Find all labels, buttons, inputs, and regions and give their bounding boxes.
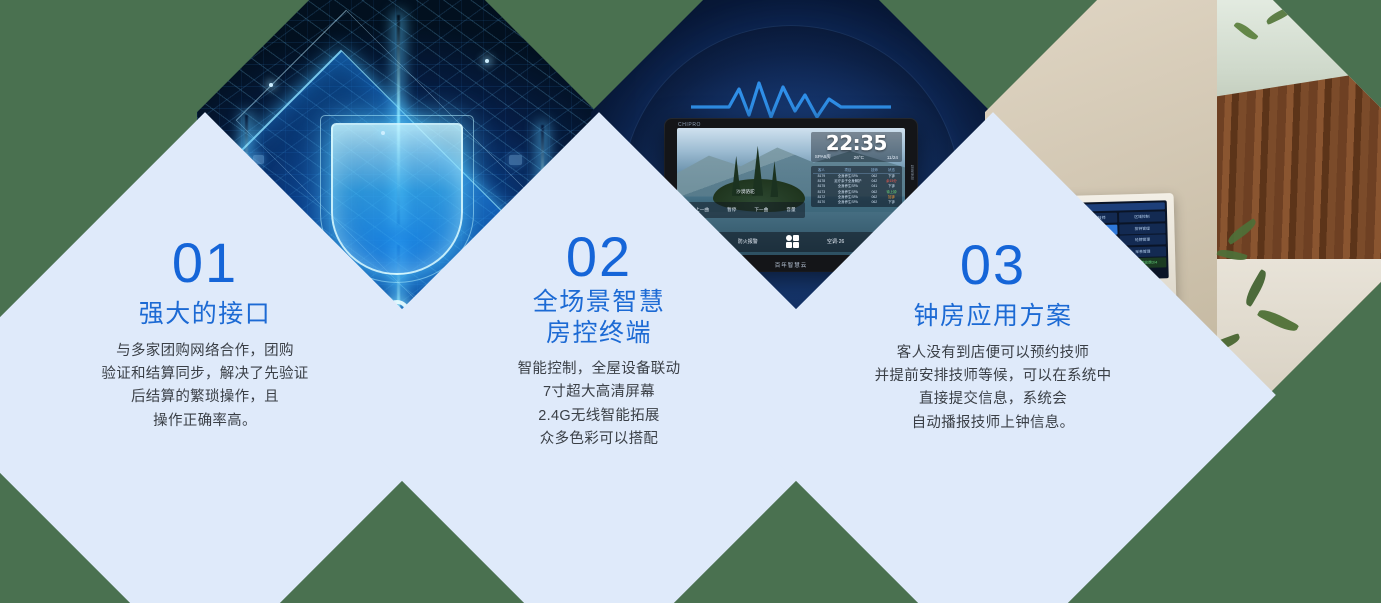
card-body-line: 操作正确率高。 [101,410,308,433]
media-controls[interactable]: 上一曲 暂停 下一曲 音量 [686,202,805,219]
room-label: SPA6房 [815,154,831,160]
card-title-line: 全场景智慧 [533,287,666,318]
clock-time: 22:35 [814,134,899,153]
fire-alarm-button[interactable]: 防火报警 [736,238,760,245]
card-title-line: 强大的接口 [139,299,272,330]
card-body-line: 客人没有到店便可以预约技师 [875,342,1112,365]
media-next-button[interactable]: 下一曲 [754,207,768,213]
card-title: 钟房应用方案 [913,301,1072,332]
date-label: 11/24 [887,155,898,160]
card-body: 智能控制，全屋设备联动 7寸超大高清屏幕 2.4G无线智能拓展 众多色彩可以搭配 [518,358,681,452]
card-number: 03 [960,237,1026,293]
col-guest: 客人 [813,167,830,172]
card-number: 01 [172,235,238,291]
col-tech: 技师 [866,168,883,173]
clock-widget: 22:35 SPA6房 26°C 11/24 [811,132,902,162]
card-body: 客人没有到店便可以预约技师 并提前安排技师等候，可以在系统中 直接提交信息，系统… [875,342,1112,436]
heartbeat-pulse-icon [691,77,891,125]
card-body-line: 众多色彩可以搭配 [518,428,681,451]
card-body-line: 自动播报技师上钟信息。 [875,412,1112,435]
panel-grid-button[interactable]: 轮牌管理 [1119,234,1166,245]
col-status: 状态 [883,168,900,173]
card-body: 与多家团购网络合作，团购 验证和结算同步，解决了先验证 后结算的繁琐操作，且 操… [101,340,308,434]
card-number: 02 [566,229,632,285]
service-schedule-table[interactable]: 客人 项目 技师 状态 8179 全身养生SPA 062 下钟 [811,166,902,207]
card-body-line: 直接提交信息，系统会 [875,388,1112,411]
apps-grid-icon[interactable] [786,235,799,248]
now-playing-label: 沙漠骆驼 [686,189,805,195]
card-title: 全场景智慧 房控终端 [533,287,666,348]
col-item: 项目 [830,167,866,172]
card-title-line: 房控终端 [533,318,666,349]
panel-grid-button[interactable]: 区域控制 [1119,211,1166,222]
temperature-label: 26°C [854,155,864,160]
card-body-line: 验证和结算同步，解决了先验证 [101,363,308,386]
card-body-line: 后结算的繁琐操作，且 [101,386,308,409]
card-body-line: 并提前安排技师等候，可以在系统中 [875,365,1112,388]
media-pause-button[interactable]: 暂停 [727,207,736,213]
air-conditioner-button[interactable]: 空调·26 [825,238,846,245]
card-body-line: 7寸超大高清屏幕 [518,381,681,404]
table-row: 8170 全身养生SPA 062 下钟 [813,200,900,205]
panel-grid-button[interactable]: 排钟管理 [1119,223,1166,234]
card-title: 强大的接口 [139,299,272,330]
card-title-line: 钟房应用方案 [913,301,1072,332]
promo-banner: CHIPRO 智能房控 22:35 SPA6房 [0,0,1381,603]
card-body-line: 智能控制，全屋设备联动 [518,358,681,381]
clock-meta: SPA6房 26°C 11/24 [814,154,899,160]
card-body-line: 与多家团购网络合作，团购 [101,340,308,363]
tablet-side-label: 智能房控 [910,165,915,181]
media-volume-button[interactable]: 音量 [786,207,795,213]
card-body-line: 2.4G无线智能拓展 [518,405,681,428]
